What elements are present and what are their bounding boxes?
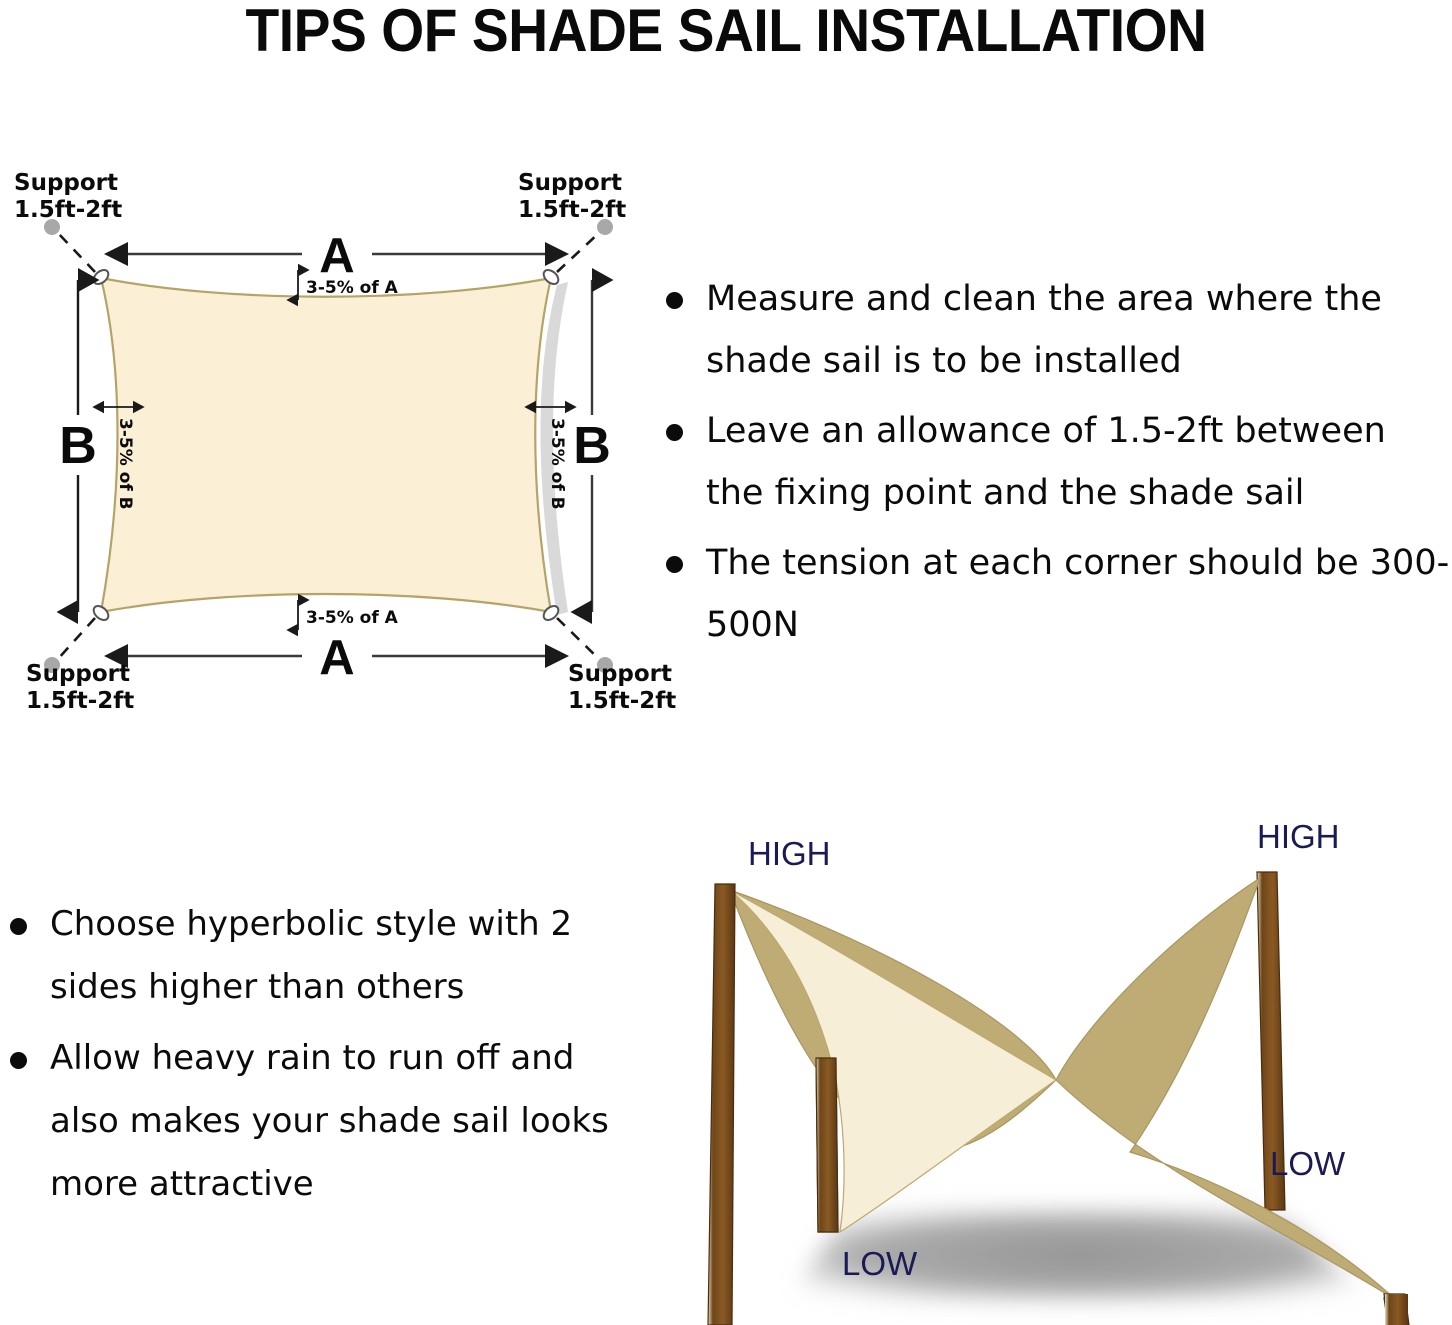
sail-surface-lower — [730, 890, 1056, 1232]
label-low-right-text: LOW — [1270, 1145, 1346, 1182]
bullet-dot-icon — [10, 918, 27, 935]
dimension-label-a-bottom: A — [319, 631, 354, 685]
post-high-left — [708, 884, 735, 1325]
list-item: Allow heavy rain to run off and also mak… — [0, 1027, 620, 1216]
label-low-left: LOW — [842, 1245, 918, 1282]
tip-text: Leave an allowance of 1.5-2ft between th… — [706, 411, 1386, 513]
curvature-label-right: 3-5% of B — [547, 418, 567, 510]
sail-shape — [101, 278, 551, 612]
infographic-page: TIPS OF SHADE SAIL INSTALLATION — [0, 0, 1452, 1325]
dimension-label-a-top: A — [319, 229, 354, 283]
bullet-dot-icon — [666, 556, 683, 573]
support-label-top-right-line2: 1.5ft-2ft — [518, 197, 626, 223]
post-low-left-shaft — [816, 1058, 838, 1232]
tip-text: Choose hyperbolic style with 2 sides hig… — [50, 904, 572, 1007]
dimension-label-b-right: B — [573, 417, 611, 475]
dimension-a-top: A — [128, 229, 545, 283]
support-label-bottom-left-line2: 1.5ft-2ft — [26, 688, 134, 714]
curvature-label-bottom: 3-5% of A — [306, 608, 399, 628]
support-label-bottom-left-line1: Support — [26, 661, 130, 687]
page-title: TIPS OF SHADE SAIL INSTALLATION — [58, 0, 1394, 65]
dimension-b-left: B — [59, 280, 97, 612]
bullet-dot-icon — [666, 292, 683, 309]
hyperbolic-shade-sail-illustration: HIGH LOW HIGH LOW — [660, 780, 1452, 1325]
support-label-bottom-right-line2: 1.5ft-2ft — [568, 688, 676, 714]
curvature-label-top: 3-5% of A — [306, 278, 399, 298]
list-item: Measure and clean the area where the sha… — [648, 268, 1452, 392]
tip-text: Measure and clean the area where the sha… — [706, 279, 1382, 381]
label-high-right: HIGH — [1257, 818, 1340, 855]
bullet-dot-icon — [666, 424, 683, 441]
support-label-top-right-line1: Support — [518, 170, 622, 196]
installation-tips-list-left: Choose hyperbolic style with 2 sides hig… — [0, 893, 620, 1224]
curvature-note-bottom: 3-5% of A — [298, 600, 399, 630]
tip-text: The tension at each corner should be 300… — [706, 543, 1449, 645]
support-label-bottom-right-line1: Support — [568, 661, 672, 687]
post-low-right-extend — [1385, 1294, 1408, 1325]
list-item: Leave an allowance of 1.5-2ft between th… — [648, 400, 1452, 524]
curvature-label-left: 3-5% of B — [115, 418, 135, 510]
dimension-b-right: B — [573, 280, 611, 612]
list-item: Choose hyperbolic style with 2 sides hig… — [0, 893, 620, 1019]
dimension-a-bottom: A — [128, 631, 545, 685]
dimension-label-b-left: B — [59, 417, 97, 475]
label-low-right-overlay: LOW — [1270, 1140, 1452, 1210]
label-high-left: HIGH — [748, 835, 831, 872]
installation-tips-list-right: Measure and clean the area where the sha… — [648, 268, 1452, 664]
curvature-note-left: 3-5% of B — [104, 407, 135, 510]
support-label-top-left-line1: Support — [14, 170, 118, 196]
tip-text: Allow heavy rain to run off and also mak… — [50, 1038, 609, 1204]
rectangular-shade-sail-diagram: A 3-5% of A A 3-5% of A B 3-5% of B — [0, 160, 680, 730]
bullet-dot-icon — [10, 1052, 27, 1069]
list-item: The tension at each corner should be 300… — [648, 532, 1452, 656]
support-label-top-left-line2: 1.5ft-2ft — [14, 197, 122, 223]
